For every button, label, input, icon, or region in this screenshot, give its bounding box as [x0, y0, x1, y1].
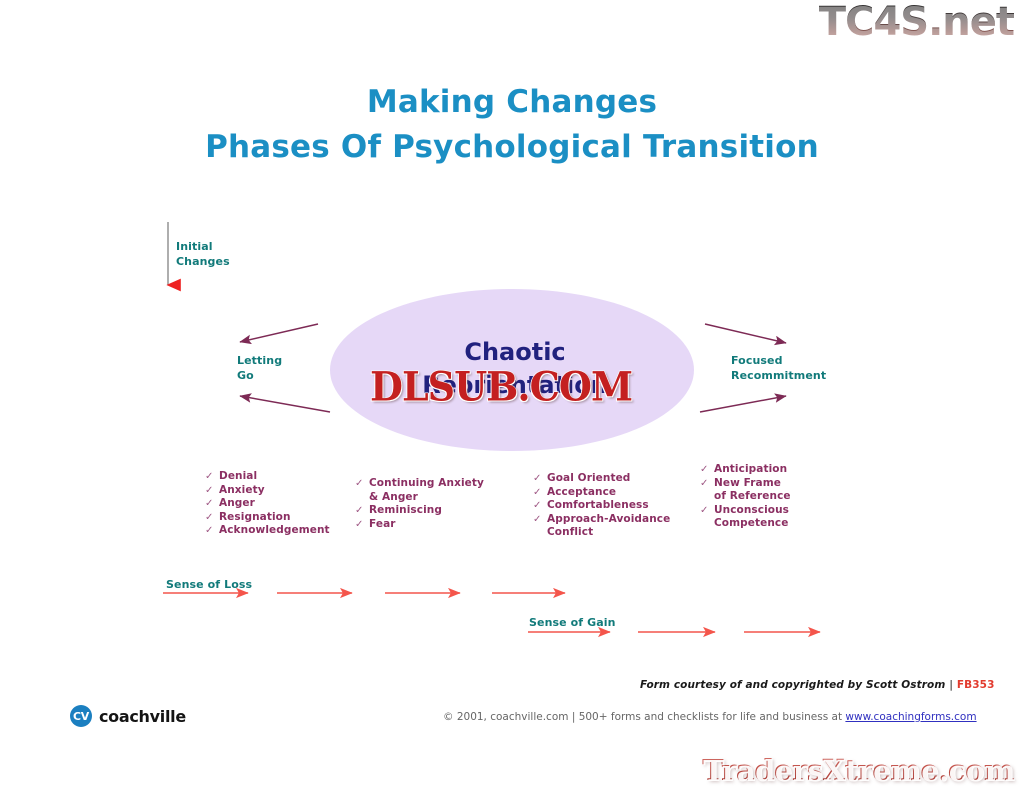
- poster-page: TC4S.net Making Changes Phases Of Psycho…: [0, 0, 1024, 791]
- check-icon: ✓: [355, 504, 369, 518]
- list-item-label: Approach-Avoidance Conflict: [547, 513, 670, 540]
- label-letting-go: Letting Go: [237, 354, 282, 383]
- checklist-focused-recommitment: ✓ Anticipation ✓ New Frame of Reference …: [700, 463, 791, 531]
- credit-separator: |: [949, 679, 953, 691]
- cv-badge-icon: CV: [70, 705, 92, 727]
- list-item: ✓ Anger: [205, 497, 330, 511]
- check-icon: ✓: [700, 477, 714, 491]
- check-icon: ✓: [700, 504, 714, 518]
- list-item: ✓ Comfortableness: [533, 499, 670, 513]
- list-item-label: Anxiety: [219, 484, 265, 498]
- checklist-chaotic-late: ✓ Goal Oriented ✓ Acceptance ✓ Comfortab…: [533, 472, 670, 540]
- credit-code: FB353: [957, 679, 995, 691]
- list-item-label: Resignation: [219, 511, 291, 525]
- label-sense-of-gain: Sense of Gain: [529, 616, 616, 631]
- list-item: ✓ New Frame of Reference: [700, 477, 791, 504]
- list-item: ✓ Acknowledgement: [205, 524, 330, 538]
- check-icon: ✓: [533, 472, 547, 486]
- label-focused-recommitment: Focused Recommitment: [731, 354, 826, 383]
- copyright-line: © 2001, coachville.com | 500+ forms and …: [443, 711, 977, 723]
- label-initial-changes: Initial Changes: [176, 240, 230, 269]
- list-item-label: Anticipation: [714, 463, 787, 477]
- list-item-label: Comfortableness: [547, 499, 649, 513]
- list-item-label: Acceptance: [547, 486, 616, 500]
- list-item: ✓ Continuing Anxiety & Anger: [355, 477, 484, 504]
- credit-line: Form courtesy of and copyrighted by Scot…: [640, 679, 994, 691]
- list-item: ✓ Anticipation: [700, 463, 791, 477]
- list-item-label: Anger: [219, 497, 255, 511]
- coachingforms-link[interactable]: www.coachingforms.com: [845, 711, 976, 723]
- list-item: ✓ Resignation: [205, 511, 330, 525]
- check-icon: ✓: [533, 486, 547, 500]
- check-icon: ✓: [205, 511, 219, 525]
- coachville-wordmark: coachville: [99, 707, 186, 726]
- list-item-label: New Frame of Reference: [714, 477, 791, 504]
- checklist-letting-go: ✓ Denial ✓ Anxiety ✓ Anger ✓ Resignation…: [205, 470, 330, 538]
- list-item: ✓ Unconscious Competence: [700, 504, 791, 531]
- list-item-label: Unconscious Competence: [714, 504, 789, 531]
- transition-diagram: Initial Changes Letting Go Focused Recom…: [0, 0, 1024, 791]
- check-icon: ✓: [700, 463, 714, 477]
- list-item-label: Goal Oriented: [547, 472, 630, 486]
- check-icon: ✓: [205, 497, 219, 511]
- coachville-logo: CV coachville: [70, 705, 186, 727]
- tradersxtreme-watermark: TradersXtreme.com: [702, 755, 1014, 785]
- list-item-label: Acknowledgement: [219, 524, 330, 538]
- check-icon: ✓: [355, 477, 369, 491]
- list-item: ✓ Approach-Avoidance Conflict: [533, 513, 670, 540]
- list-item-label: Denial: [219, 470, 257, 484]
- list-item: ✓ Goal Oriented: [533, 472, 670, 486]
- list-item: ✓ Reminiscing: [355, 504, 484, 518]
- check-icon: ✓: [355, 518, 369, 532]
- check-icon: ✓: [205, 524, 219, 538]
- list-item: ✓ Anxiety: [205, 484, 330, 498]
- list-item: ✓ Denial: [205, 470, 330, 484]
- list-item-label: Fear: [369, 518, 396, 532]
- dlsub-watermark: DLSUB.COM: [370, 366, 632, 408]
- credit-text: Form courtesy of and copyrighted by Scot…: [640, 679, 945, 691]
- checklist-chaotic-early: ✓ Continuing Anxiety & Anger ✓ Reminisci…: [355, 477, 484, 531]
- check-icon: ✓: [205, 484, 219, 498]
- label-sense-of-loss: Sense of Loss: [166, 578, 252, 593]
- check-icon: ✓: [205, 470, 219, 484]
- list-item: ✓ Fear: [355, 518, 484, 532]
- check-icon: ✓: [533, 499, 547, 513]
- check-icon: ✓: [533, 513, 547, 527]
- list-item-label: Continuing Anxiety & Anger: [369, 477, 484, 504]
- copyright-text: © 2001, coachville.com | 500+ forms and …: [443, 711, 845, 723]
- list-item: ✓ Acceptance: [533, 486, 670, 500]
- list-item-label: Reminiscing: [369, 504, 442, 518]
